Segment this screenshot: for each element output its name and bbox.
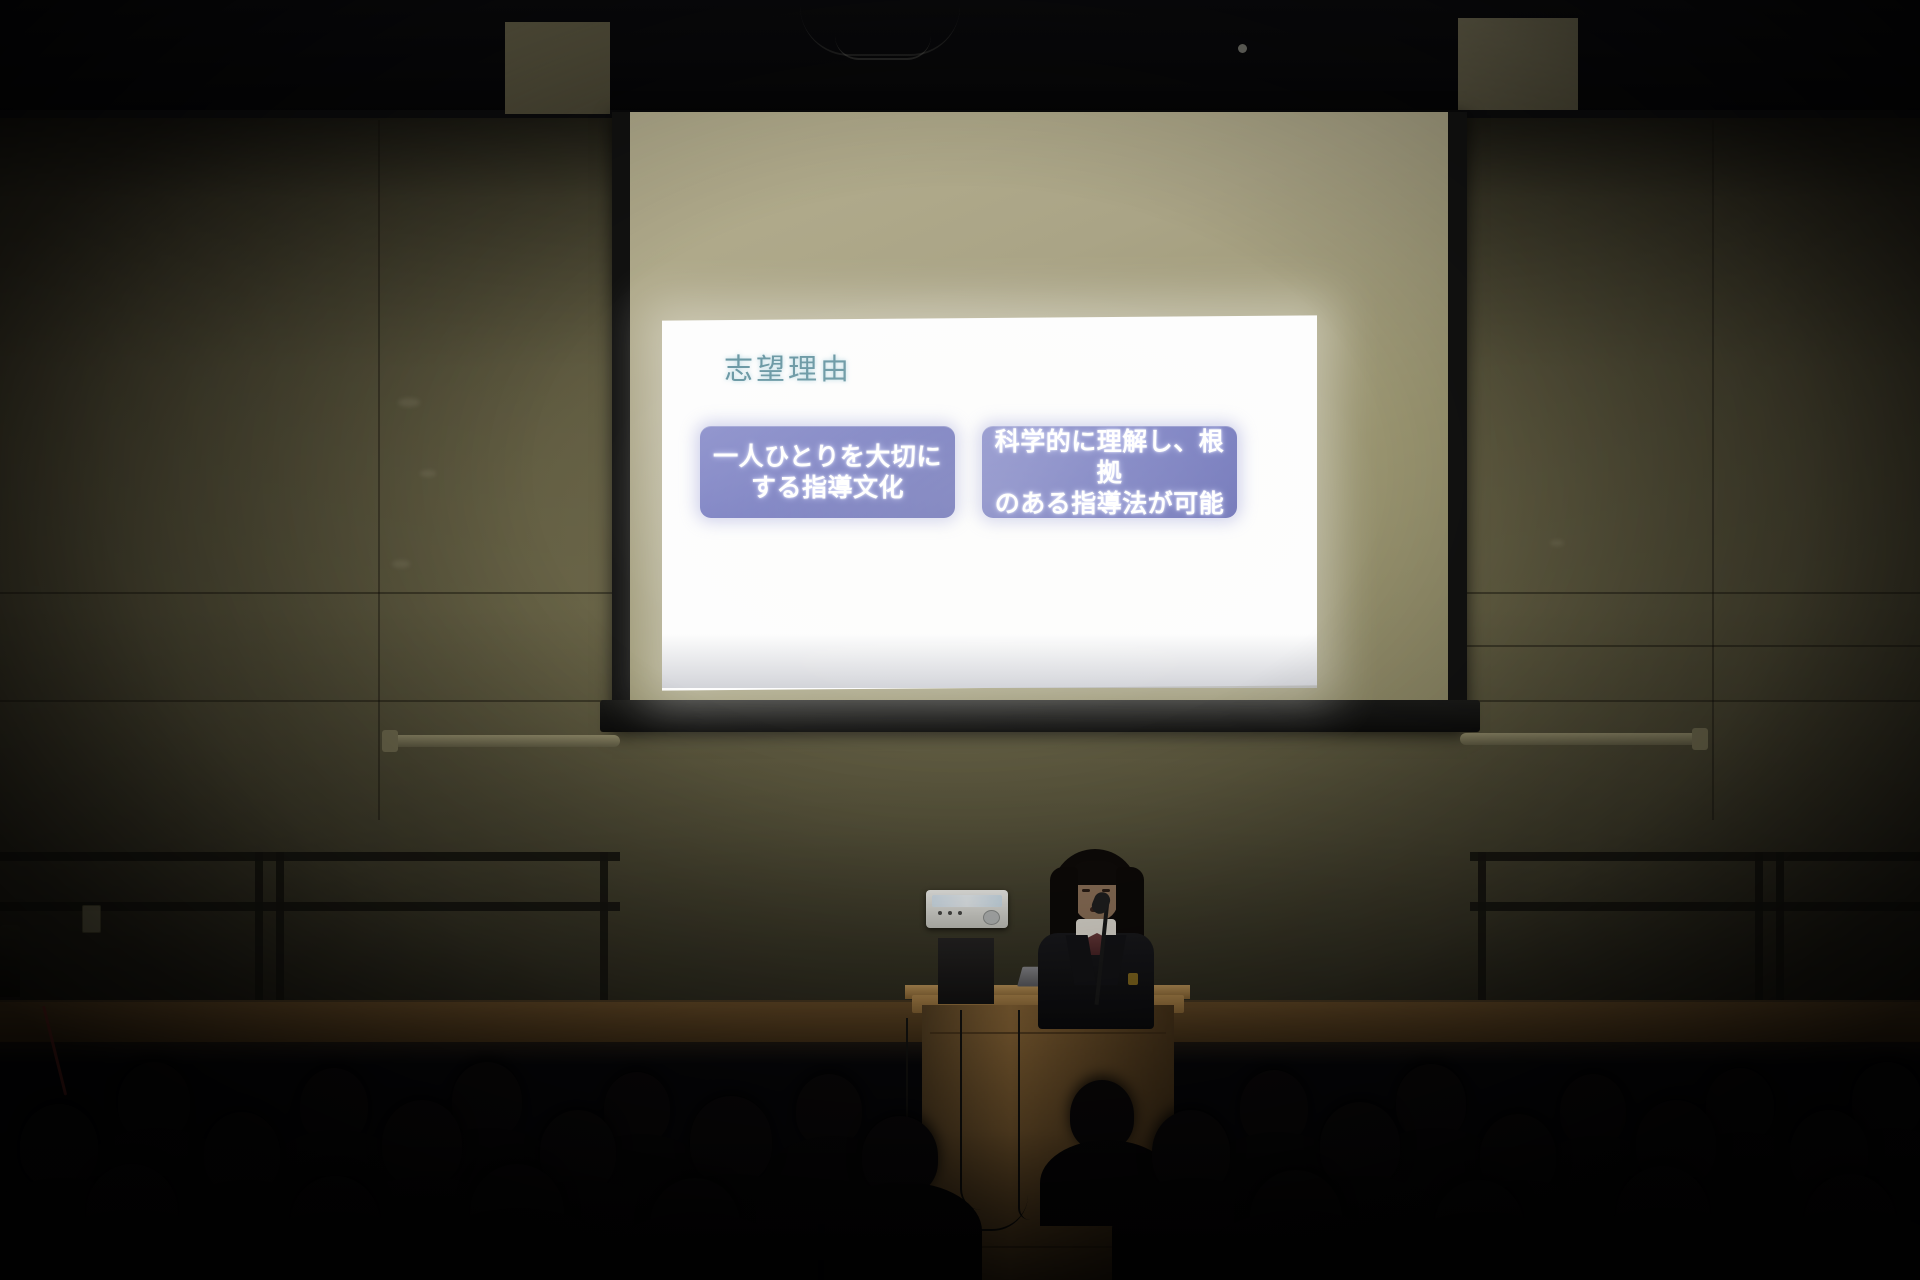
wall-mark: [420, 470, 436, 477]
slide-box-1: 一人ひとりを大切に する指導文化: [700, 426, 955, 518]
stage-rail-post: [1776, 852, 1784, 1000]
wall-seam: [1467, 700, 1920, 702]
ceiling-panel-right: [1458, 18, 1578, 110]
stage-rail-post: [1478, 852, 1486, 1000]
photo-scene: 志望理由 一人ひとりを大切に する指導文化 科学的に理解し、根拠 のある指導法が…: [0, 0, 1920, 1280]
projector-button[interactable]: [958, 911, 962, 915]
slide-box-2: 科学的に理解し、根拠 のある指導法が可能: [982, 426, 1237, 518]
slide-box-2-text: 科学的に理解し、根拠 のある指導法が可能: [982, 426, 1237, 519]
stage-rail-left: [0, 852, 620, 861]
audience: [0, 980, 1920, 1280]
slide-box-1-text: 一人ひとりを大切に する指導文化: [705, 441, 950, 503]
projector-button[interactable]: [948, 911, 952, 915]
screen-roller-bottom: [600, 700, 1480, 732]
wall-outlet: [82, 905, 101, 933]
stage-rail-post: [276, 852, 284, 1000]
stage-rail-post: [600, 852, 608, 1000]
projector-lens: [983, 910, 1000, 925]
audience-head: [1852, 1062, 1920, 1138]
wall-mark: [1550, 540, 1564, 546]
presentation-slide: 志望理由 一人ひとりを大切に する指導文化 科学的に理解し、根拠 のある指導法が…: [662, 315, 1317, 690]
wall-seam: [1467, 645, 1920, 647]
stage-rail-right-lower: [1470, 902, 1920, 911]
slide-box-row: 一人ひとりを大切に する指導文化 科学的に理解し、根拠 のある指導法が可能: [662, 426, 1317, 526]
audience-head: [452, 1062, 522, 1138]
slide-title: 志望理由: [724, 346, 852, 388]
ceiling-light-dot: [1238, 44, 1247, 53]
screen-rod-right: [1460, 733, 1700, 745]
projector-button[interactable]: [938, 911, 942, 915]
stage-rail-post: [1755, 852, 1763, 1000]
wall-vertical-seam: [378, 120, 380, 820]
projector-vent: [932, 895, 1002, 907]
screen-rod-cap-right: [1692, 728, 1708, 750]
ceiling-light-fixture-inner: [835, 36, 931, 60]
ceiling-panel-left: [505, 22, 610, 114]
wall-mark: [398, 398, 420, 407]
audience-shadow-overlay: [0, 1130, 1920, 1280]
presenter-eye-left: [1082, 889, 1090, 892]
screen-rod-left: [390, 735, 620, 747]
stage-rail-right: [1470, 852, 1920, 861]
screen-rod-cap-left: [382, 730, 398, 752]
wall-seam: [0, 700, 612, 702]
slide-bottom-fade: [662, 634, 1317, 688]
wall-vertical-seam: [1712, 120, 1714, 820]
ceiling: [0, 0, 1920, 118]
stage-rail-post: [255, 852, 263, 1000]
wall-mark: [392, 560, 410, 568]
